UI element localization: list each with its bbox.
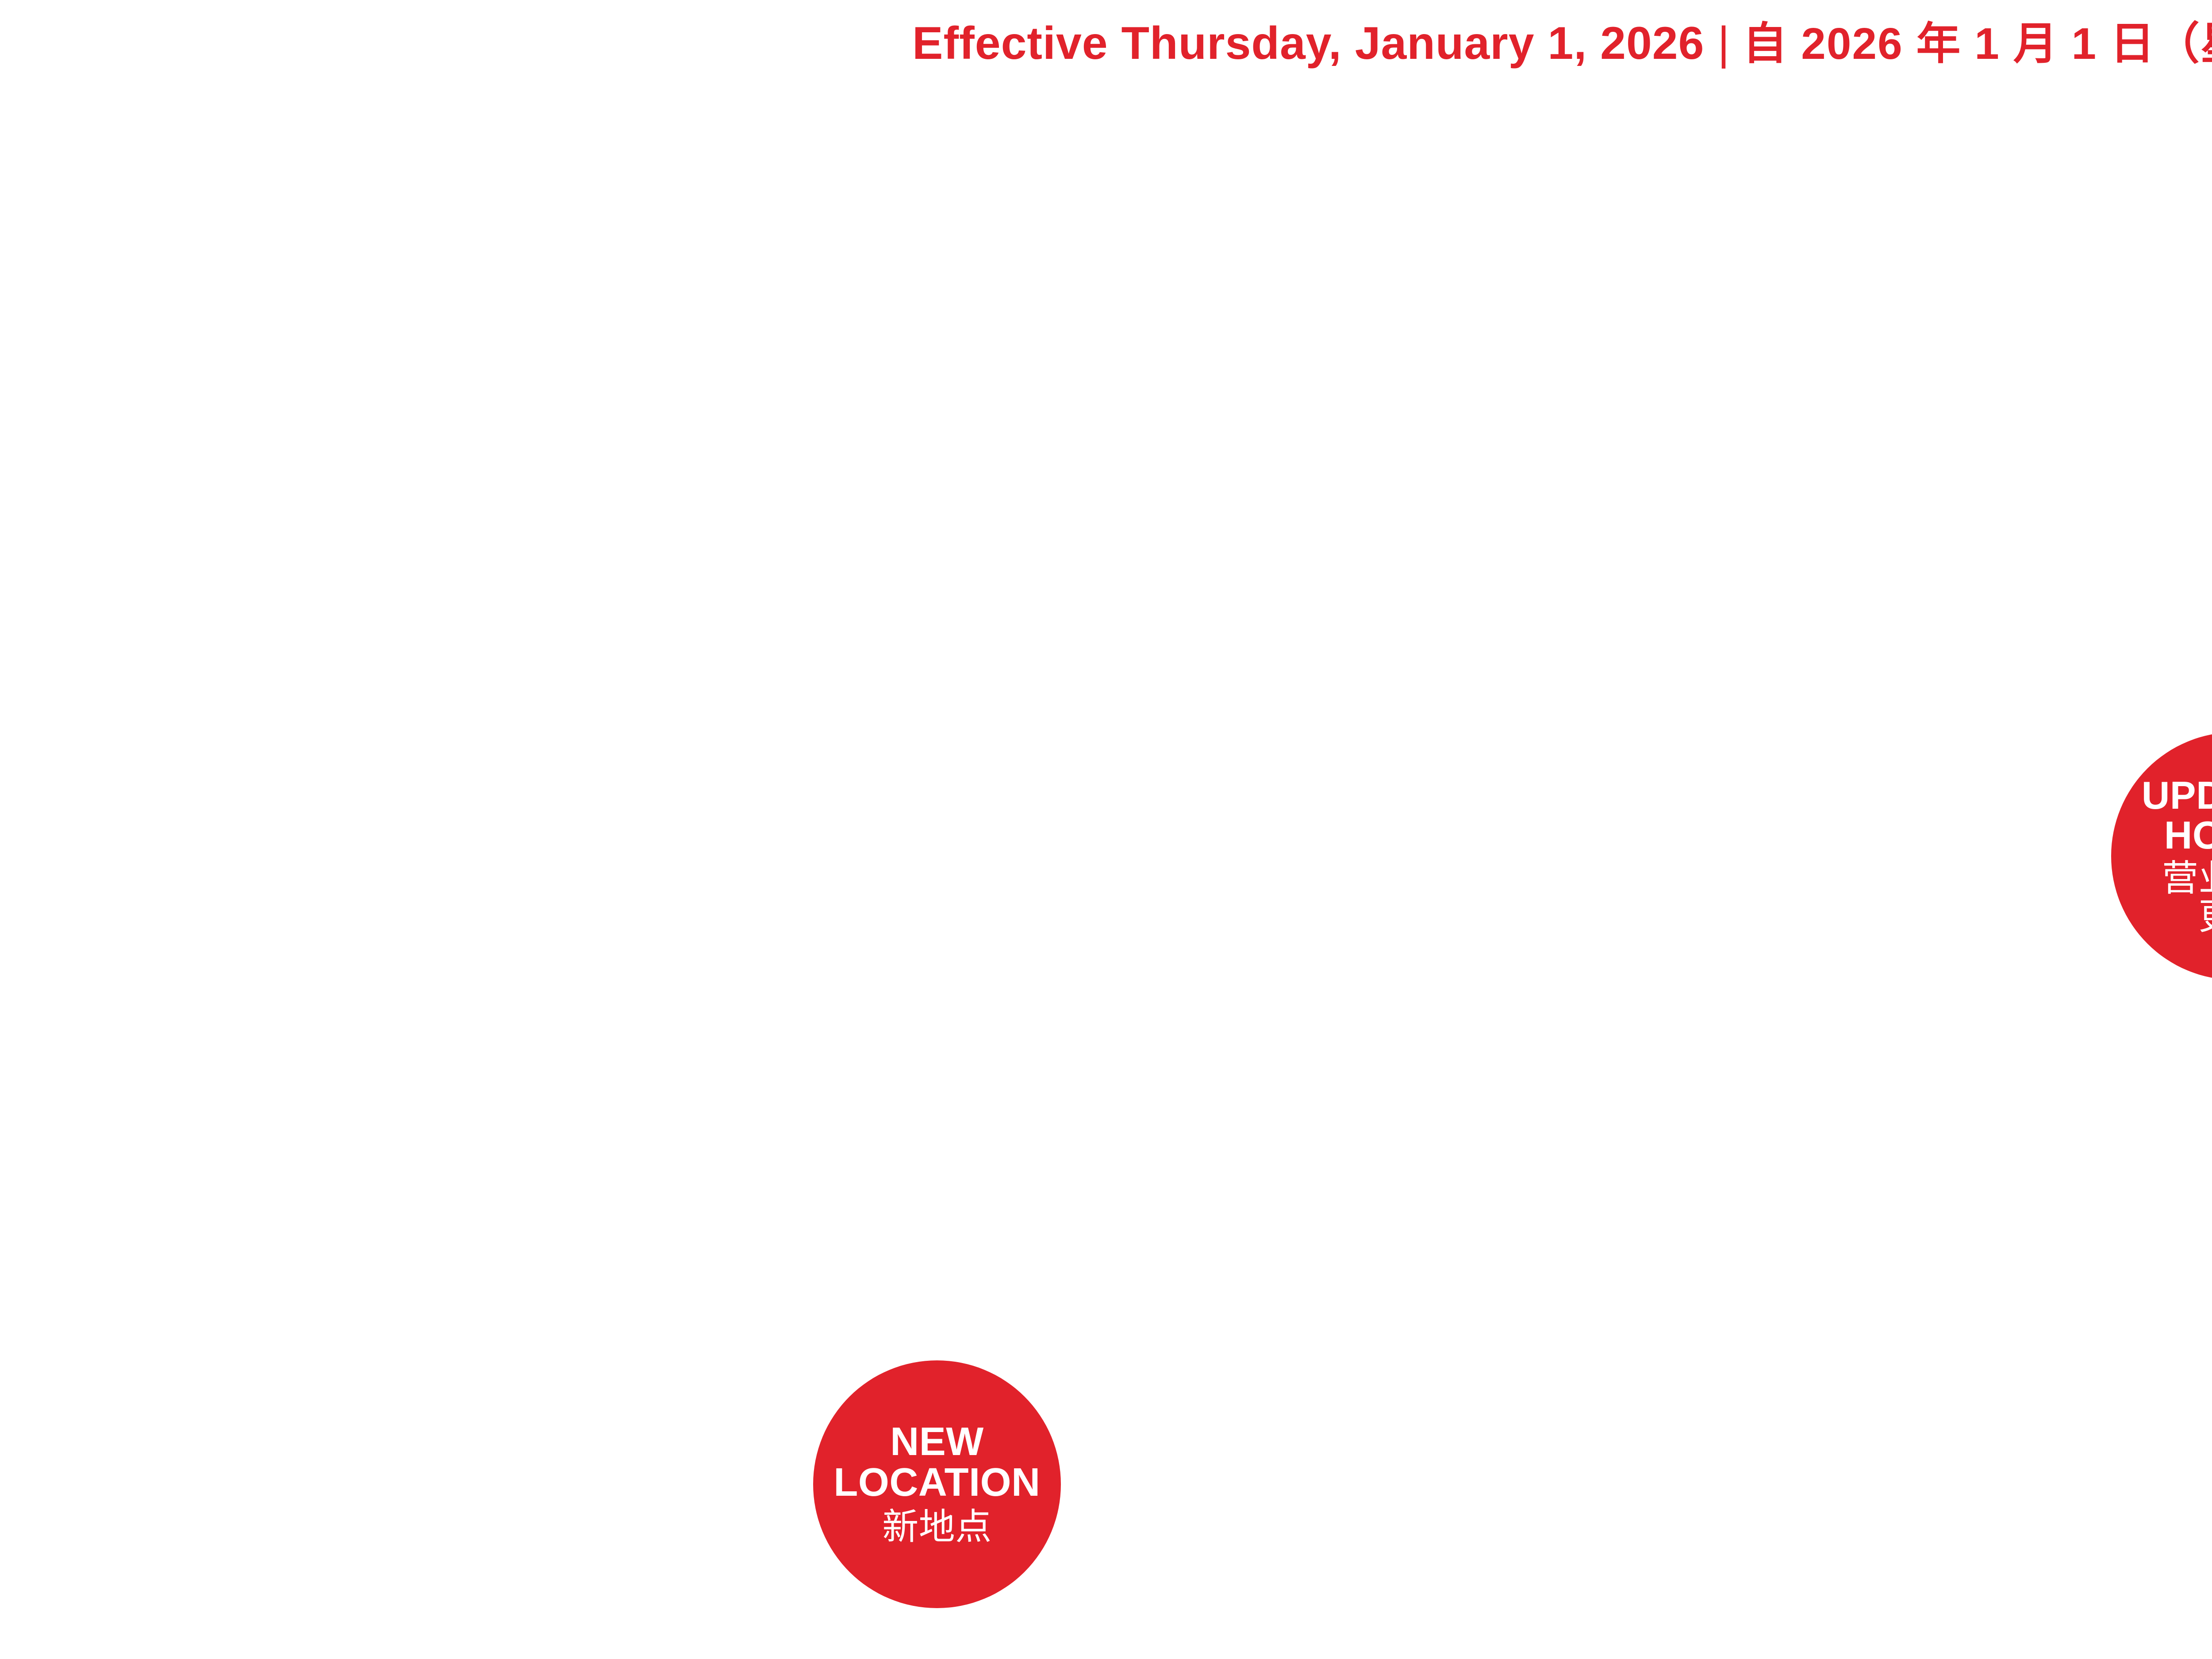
effective-date-separator: | xyxy=(1704,20,1743,66)
badge-new-location-label-zh: 新地点 xyxy=(882,1508,992,1547)
badge-new-location: NEW LOCATION 新地点 xyxy=(813,1360,1061,1608)
badge-new-location-label-en: NEW LOCATION xyxy=(833,1422,1040,1503)
badge-updated-hours: UPDATED HOURS 营业时间 更新 xyxy=(2111,732,2212,980)
effective-date-chinese: 自 2026 年 1 月 1 日（星期四）起生效 xyxy=(1743,22,2212,66)
effective-date-banner: Effective Thursday, January 1, 2026|自 20… xyxy=(0,20,2212,66)
badge-updated-hours-label-zh: 营业时间 更新 xyxy=(2162,860,2212,937)
badge-updated-hours-label-en: UPDATED HOURS xyxy=(2142,776,2212,855)
page-canvas: Effective Thursday, January 1, 2026|自 20… xyxy=(0,0,2212,1659)
effective-date-english: Effective Thursday, January 1, 2026 xyxy=(912,20,1704,66)
